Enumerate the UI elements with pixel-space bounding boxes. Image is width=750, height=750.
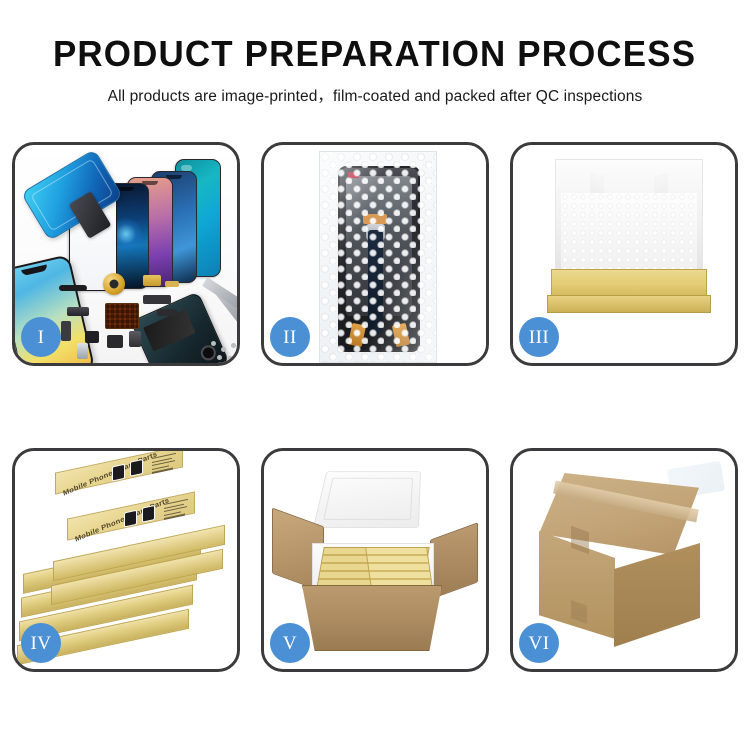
part-button-flex-icon (61, 321, 71, 341)
step-badge-5: V (270, 623, 310, 663)
step-badge-1: I (21, 317, 61, 357)
part-cable-icon (143, 295, 171, 304)
part-sim-tray-icon (77, 343, 88, 359)
step-badge-3: III (519, 317, 559, 357)
part-gold-small-icon (165, 281, 179, 287)
retail-boxes-inside-secondary-icon (365, 547, 433, 589)
screws-group-icon (211, 341, 237, 363)
step-panel-3[interactable]: III (510, 142, 738, 366)
part-shield-icon (157, 309, 177, 316)
page-title: PRODUCT PREPARATION PROCESS (53, 36, 696, 72)
retail-box-label-top: Mobile Phone Spare Parts (62, 451, 158, 498)
step-panel-2[interactable]: II (261, 142, 489, 366)
step-badge-2: II (270, 317, 310, 357)
part-camera-module-icon (129, 331, 141, 347)
product-preparation-process-page: PRODUCT PREPARATION PROCESS All products… (0, 0, 750, 750)
step-badge-4: IV (21, 623, 61, 663)
plastic-sheen (320, 152, 436, 362)
process-steps-grid: I (12, 142, 738, 672)
kraft-tray-front-icon (547, 295, 711, 313)
part-strip-icon (59, 285, 87, 291)
step-badge-6: VI (519, 623, 559, 663)
part-gold-flex-icon (143, 275, 161, 286)
header: PRODUCT PREPARATION PROCESS All products… (0, 0, 750, 120)
retail-box-label: Mobile Phone Spare Parts (74, 495, 170, 543)
bubble-wrap-bag (319, 151, 437, 363)
part-vibrator-icon (107, 335, 123, 348)
foam-sheet-icon (561, 193, 697, 271)
part-bracket-icon (67, 307, 89, 316)
step-panel-6[interactable]: VI (510, 448, 738, 672)
retail-box-printed-lid: Mobile Phone Spare Parts (67, 491, 195, 540)
copper-coil-part-icon (103, 273, 125, 295)
step-panel-4[interactable]: Mobile Phone Spare Parts Mobile Phone Sp… (12, 448, 240, 672)
contact-grid-part-icon (105, 303, 139, 329)
retail-box-printed-lid-top: Mobile Phone Spare Parts (55, 451, 183, 495)
step-panel-5[interactable]: V (261, 448, 489, 672)
carton-body-icon (302, 585, 442, 651)
page-subtitle: All products are image-printed，film-coat… (108, 84, 643, 106)
foam-box-lid-icon (313, 471, 421, 528)
part-speaker-icon (85, 331, 99, 343)
step-panel-1[interactable]: I (12, 142, 240, 366)
